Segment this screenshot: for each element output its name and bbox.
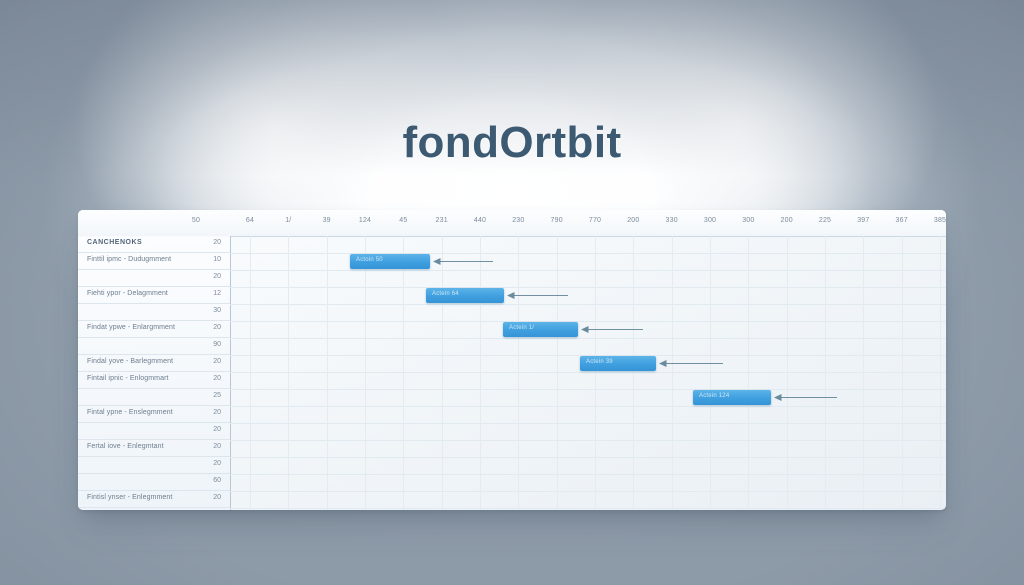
gantt-bar[interactable]: Actein 64	[426, 288, 504, 303]
timeline-tick-label: 397	[857, 217, 869, 224]
timeline-tick-label: 200	[781, 217, 793, 224]
grid-line-horizontal	[230, 321, 946, 322]
task-value-cell: 20	[213, 460, 221, 467]
gantt-bar[interactable]: Actoin 50	[350, 254, 430, 269]
timeline-tick-label: 770	[589, 217, 601, 224]
grid-line-horizontal	[230, 304, 946, 305]
task-value-cell: 60	[213, 477, 221, 484]
timeline-tick-label: 385	[934, 217, 946, 224]
task-row[interactable]: Fintisl ynser - Enlegmment20	[78, 491, 230, 508]
task-row[interactable]: Finttil ipmc - Dudugmment10	[78, 253, 230, 270]
timeline-tick-label: 330	[666, 217, 678, 224]
task-row[interactable]: Findal yove - Barlegmment20	[78, 355, 230, 372]
grid-line-horizontal	[230, 406, 946, 407]
grid-line-horizontal	[230, 474, 946, 475]
gantt-bar-label: Actoin 50	[356, 257, 383, 263]
timeline-tick-label: 367	[896, 217, 908, 224]
grid-line-horizontal	[230, 372, 946, 373]
task-value-cell: 20	[213, 239, 221, 246]
grid-line-vertical	[288, 236, 289, 510]
grid-line-horizontal	[230, 389, 946, 390]
timeline-tick-label: 64	[246, 217, 254, 224]
grid-line-horizontal	[230, 440, 946, 441]
grid-line-vertical	[403, 236, 404, 510]
task-row[interactable]: Fintal ypne - Enslegmment20	[78, 406, 230, 423]
task-value-cell: 30	[213, 307, 221, 314]
gantt-bar-label: Actein 124	[699, 393, 729, 399]
grid-line-vertical	[710, 236, 711, 510]
timeline-tick-label: 1/	[285, 217, 291, 224]
task-value-cell: 20	[213, 443, 221, 450]
task-name-label: Fertal iove - Enlegmtant	[87, 443, 164, 450]
gantt-bar-label: Actein 39	[586, 359, 613, 365]
timeline-tick-label: 39	[323, 217, 331, 224]
task-row[interactable]: 30	[78, 304, 230, 321]
timeline-tick-label: 440	[474, 217, 486, 224]
task-row[interactable]: 25	[78, 389, 230, 406]
grid-line-vertical	[518, 236, 519, 510]
grid-line-vertical	[250, 236, 251, 510]
grid-line-vertical	[480, 236, 481, 510]
grid-line-vertical	[365, 236, 366, 510]
task-value-cell: 20	[213, 426, 221, 433]
gantt-bar-label: Actein 1/	[509, 325, 534, 331]
task-row[interactable]: Fertal iove - Enlegmtant20	[78, 440, 230, 457]
timeline-tick-label: 200	[627, 217, 639, 224]
gantt-grid-area: Actoin 50Actein 64Actein 1/Actein 39Acte…	[230, 236, 946, 510]
grid-line-vertical	[557, 236, 558, 510]
timeline-tick-label: 300	[742, 217, 754, 224]
grid-line-vertical	[595, 236, 596, 510]
task-value-cell: 20	[213, 358, 221, 365]
grid-line-horizontal	[230, 270, 946, 271]
task-row[interactable]: Fiehti ypor - Delagmment12	[78, 287, 230, 304]
task-name-column: CANCHENOKS20Finttil ipmc - Dudugmment102…	[78, 236, 231, 510]
timeline-tick-label: 230	[512, 217, 524, 224]
grid-line-vertical	[863, 236, 864, 510]
callout-arrow-icon	[659, 359, 723, 368]
task-name-label: Fintisl ynser - Enlegmment	[87, 494, 172, 501]
task-name-label: Findat ypwe - Enlargmment	[87, 324, 175, 331]
grid-line-horizontal	[230, 491, 946, 492]
task-row[interactable]: 90	[78, 338, 230, 355]
task-row[interactable]: 60	[78, 474, 230, 491]
grid-line-vertical	[748, 236, 749, 510]
timeline-tick-label: 45	[399, 217, 407, 224]
task-value-cell: 20	[213, 273, 221, 280]
task-row[interactable]: 20	[78, 457, 230, 474]
timeline-tick-label: 231	[436, 217, 448, 224]
task-value-cell: 20	[213, 324, 221, 331]
gantt-bar[interactable]: Actein 1/	[503, 322, 578, 337]
grid-line-horizontal	[230, 423, 946, 424]
task-name-label: Fiehti ypor - Delagmment	[87, 290, 168, 297]
callout-arrow-icon	[581, 325, 643, 334]
grid-line-vertical	[902, 236, 903, 510]
gantt-bar-label: Actein 64	[432, 291, 459, 297]
grid-line-vertical	[940, 236, 941, 510]
timeline-tick-label: 225	[819, 217, 831, 224]
grid-line-horizontal	[230, 287, 946, 288]
callout-arrow-icon	[433, 257, 493, 266]
timeline-header-row: 50641/3912445231440230790770200330300300…	[78, 210, 946, 237]
timeline-tick-label: 300	[704, 217, 716, 224]
task-value-cell: 20	[213, 409, 221, 416]
task-row[interactable]: 20	[78, 270, 230, 287]
task-name-label: Findal yove - Barlegmment	[87, 358, 173, 365]
grid-line-vertical	[825, 236, 826, 510]
grid-line-horizontal	[230, 508, 946, 509]
task-value-cell: 20	[213, 494, 221, 501]
timeline-tick-label: 50	[192, 217, 200, 224]
grid-line-vertical	[442, 236, 443, 510]
grid-line-vertical	[787, 236, 788, 510]
task-column-heading: CANCHENOKS	[87, 239, 142, 246]
task-row[interactable]: Findat ypwe - Enlargmment20	[78, 321, 230, 338]
grid-line-horizontal	[230, 253, 946, 254]
task-name-label: Fintail ipnic - Enlogmmart	[87, 375, 169, 382]
brand-wordmark: fondOrtbit	[0, 118, 1024, 168]
timeline-tick-label: 790	[551, 217, 563, 224]
callout-arrow-icon	[774, 393, 837, 402]
gantt-chart-panel: 50641/3912445231440230790770200330300300…	[78, 210, 946, 510]
gantt-bar[interactable]: Actein 124	[693, 390, 771, 405]
task-value-cell: 12	[213, 290, 221, 297]
task-value-cell: 90	[213, 341, 221, 348]
grid-line-vertical	[633, 236, 634, 510]
task-value-cell: 20	[213, 375, 221, 382]
grid-line-vertical	[327, 236, 328, 510]
task-value-cell: 25	[213, 392, 221, 399]
screenshot-stage: fondOrtbit 50641/39124452314402307907702…	[0, 0, 1024, 585]
grid-line-horizontal	[230, 338, 946, 339]
task-name-label: Fintal ypne - Enslegmment	[87, 409, 173, 416]
task-name-label: Finttil ipmc - Dudugmment	[87, 256, 171, 263]
grid-line-horizontal	[230, 457, 946, 458]
timeline-tick-label: 124	[359, 217, 371, 224]
callout-arrow-icon	[507, 291, 568, 300]
task-row[interactable]: Fintail ipnic - Enlogmmart20	[78, 372, 230, 389]
task-row[interactable]: 20	[78, 423, 230, 440]
grid-line-vertical	[672, 236, 673, 510]
task-row[interactable]: CANCHENOKS20	[78, 236, 230, 253]
task-value-cell: 10	[213, 256, 221, 263]
gantt-bar[interactable]: Actein 39	[580, 356, 656, 371]
